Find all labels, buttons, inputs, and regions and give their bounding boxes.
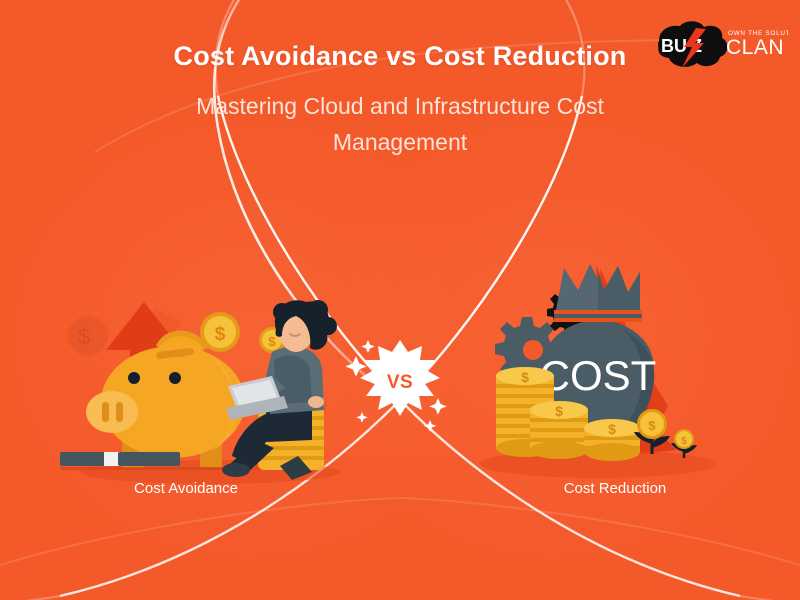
svg-text:$: $ [215, 324, 226, 345]
logo-buzz-text: BU [661, 36, 687, 56]
svg-text:$: $ [608, 421, 616, 437]
buzzclan-logo[interactable]: BU Z CLAN OWN THE SOLUTION [652, 20, 788, 72]
banner-canvas: Cost Avoidance vs Cost Reduction Masteri… [0, 0, 800, 600]
money-bag-label: COST [540, 352, 657, 399]
logo-clan-text: CLAN [726, 36, 784, 59]
vs-label: VS [346, 326, 454, 438]
vs-badge: VS [346, 326, 454, 438]
page-subtitle: Mastering Cloud and Infrastructure Cost … [130, 88, 670, 160]
left-panel-label: Cost Avoidance [56, 480, 316, 497]
coin-stack-medium: $ [530, 401, 588, 459]
arc-bottom-faint [0, 498, 400, 565]
svg-text:$: $ [681, 436, 687, 447]
svg-text:$: $ [555, 403, 563, 419]
piggy-bank-icon [86, 331, 253, 469]
money-bag-cost-illustration: COST $ $ [470, 258, 720, 498]
coin-stack-short: $ [584, 419, 640, 461]
svg-text:$: $ [521, 369, 529, 385]
piggy-bank-saving-illustration: $ $ $ $ [60, 290, 350, 490]
svg-text:$: $ [648, 418, 656, 433]
watermark-dollar-sign: $ [78, 324, 90, 349]
svg-text:$: $ [268, 334, 276, 349]
right-panel-label: Cost Reduction [485, 480, 745, 497]
logo-tagline: OWN THE SOLUTION [728, 30, 788, 37]
